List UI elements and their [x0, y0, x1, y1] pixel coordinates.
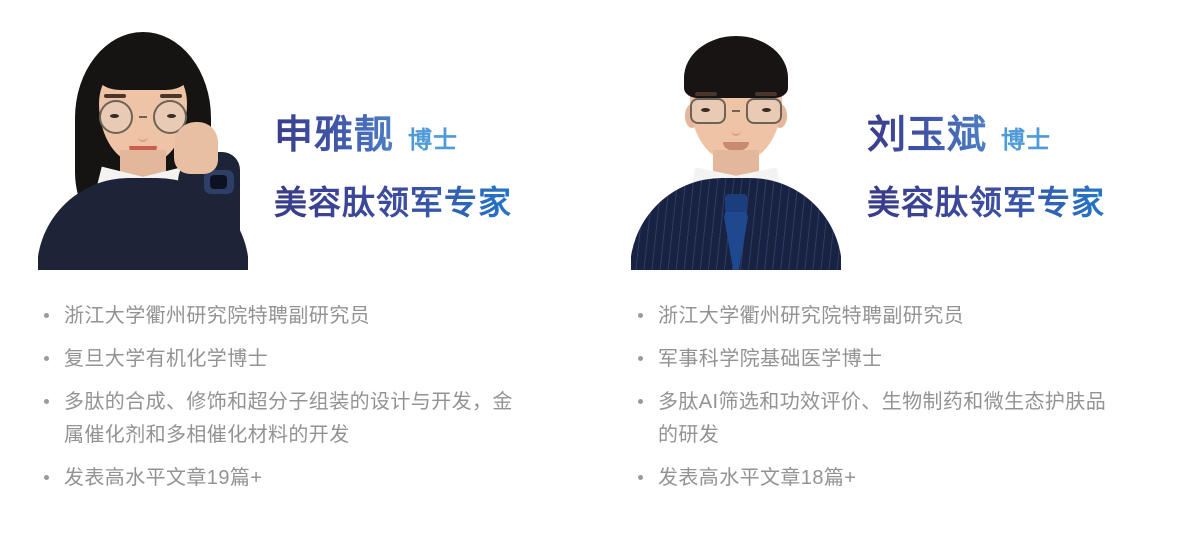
- list-item: 多肽的合成、修饰和超分子组装的设计与开发，金属催化剂和多相催化材料的开发: [44, 386, 514, 452]
- expert-photo-2: [631, 8, 841, 270]
- name-line-2: 刘玉斌 博士: [867, 104, 1186, 160]
- expert-title-1: 美容肽领军专家: [274, 176, 593, 224]
- expert-name-1: 申雅靓: [274, 104, 394, 160]
- expert-name-2: 刘玉斌: [867, 104, 987, 160]
- bullet-text: 浙江大学衢州研究院特聘副研究员: [64, 300, 370, 333]
- bullet-dot-icon: [44, 356, 49, 361]
- female-portrait-illustration: [38, 8, 248, 270]
- bullet-text: 发表高水平文章18篇+: [658, 462, 856, 495]
- experts-row: 申雅靓 博士 美容肽领军专家 浙江大学衢州研究院特聘副研究员 复旦大学有机化学博…: [0, 0, 1187, 547]
- hand-shape: [174, 122, 218, 174]
- bullet-text: 多肽AI筛选和功效评价、生物制药和微生态护肤品的研发: [658, 386, 1118, 452]
- expert-header-1: 申雅靓 博士 美容肽领军专家: [0, 8, 593, 278]
- bullet-text: 复旦大学有机化学博士: [64, 343, 268, 376]
- eye-right: [167, 114, 176, 118]
- eye-left: [110, 114, 119, 118]
- expert-name-block-1: 申雅靓 博士 美容肽领军专家: [274, 8, 593, 224]
- bullet-text: 军事科学院基础医学博士: [658, 343, 882, 376]
- expert-name-block-2: 刘玉斌 博士 美容肽领军专家: [867, 8, 1186, 224]
- expert-degree-1: 博士: [408, 120, 458, 155]
- expert-card-2: 刘玉斌 博士 美容肽领军专家 浙江大学衢州研究院特聘副研究员 军事科学院基础医学…: [593, 0, 1186, 547]
- eyebrow-right: [160, 94, 182, 98]
- name-line-1: 申雅靓 博士: [274, 104, 593, 160]
- list-item: 发表高水平文章19篇+: [44, 462, 514, 495]
- expert-title-2: 美容肽领军专家: [867, 176, 1186, 224]
- glasses-bridge: [732, 110, 740, 112]
- eyebrow-left: [695, 92, 717, 96]
- list-item: 浙江大学衢州研究院特聘副研究员: [44, 300, 514, 333]
- bullet-text: 多肽的合成、修饰和超分子组装的设计与开发，金属催化剂和多相催化材料的开发: [64, 386, 514, 452]
- mouth-shape: [723, 142, 749, 150]
- list-item: 复旦大学有机化学博士: [44, 343, 514, 376]
- list-item: 浙江大学衢州研究院特聘副研究员: [638, 300, 1118, 333]
- hair-shape: [684, 36, 788, 98]
- expert-bullets-2: 浙江大学衢州研究院特聘副研究员 军事科学院基础医学博士 多肽AI筛选和功效评价、…: [638, 300, 1118, 505]
- bullet-dot-icon: [638, 356, 643, 361]
- expert-degree-2: 博士: [1001, 120, 1051, 155]
- list-item: 多肽AI筛选和功效评价、生物制药和微生态护肤品的研发: [638, 386, 1118, 452]
- bullet-dot-icon: [44, 475, 49, 480]
- eye-left: [701, 108, 710, 112]
- list-item: 军事科学院基础医学博士: [638, 343, 1118, 376]
- eyebrow-left: [104, 94, 126, 98]
- bullet-text: 浙江大学衢州研究院特聘副研究员: [658, 300, 964, 333]
- bullet-dot-icon: [638, 475, 643, 480]
- glasses-bridge: [139, 116, 147, 118]
- bullet-text: 发表高水平文章19篇+: [64, 462, 262, 495]
- eyebrow-right: [755, 92, 777, 96]
- expert-header-2: 刘玉斌 博士 美容肽领军专家: [593, 8, 1186, 278]
- bullet-dot-icon: [638, 399, 643, 404]
- expert-bullets-1: 浙江大学衢州研究院特聘副研究员 复旦大学有机化学博士 多肽的合成、修饰和超分子组…: [44, 300, 514, 505]
- bullet-dot-icon: [638, 313, 643, 318]
- expert-card-1: 申雅靓 博士 美容肽领军专家 浙江大学衢州研究院特聘副研究员 复旦大学有机化学博…: [0, 0, 593, 547]
- expert-photo-1: [38, 8, 248, 270]
- male-portrait-illustration: [631, 8, 841, 270]
- smartwatch-icon: [204, 170, 234, 194]
- bullet-dot-icon: [44, 399, 49, 404]
- bullet-dot-icon: [44, 313, 49, 318]
- list-item: 发表高水平文章18篇+: [638, 462, 1118, 495]
- hair-front-shape: [93, 38, 193, 90]
- eye-right: [762, 108, 771, 112]
- experts-panel: 申雅靓 博士 美容肽领军专家 浙江大学衢州研究院特聘副研究员 复旦大学有机化学博…: [0, 0, 1187, 547]
- tie-knot-shape: [725, 194, 747, 212]
